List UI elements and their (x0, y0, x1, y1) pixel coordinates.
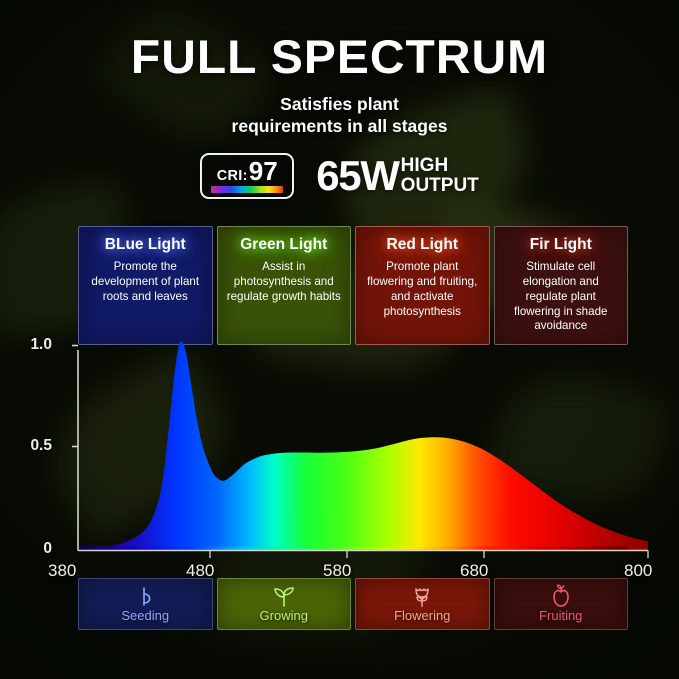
light-card-description: Promote plant flowering and fruiting, an… (363, 260, 482, 319)
light-card-description: Assist in photosynthesis and regulate gr… (225, 260, 344, 304)
cri-rainbow-bar-icon (211, 186, 283, 193)
light-card-title: Fir Light (502, 236, 621, 253)
stage-box-seeding: Seeding (78, 578, 213, 630)
growth-stage-boxes: SeedingGrowingFloweringFruiting (78, 578, 628, 630)
tulip-icon (411, 585, 433, 607)
apple-icon (550, 585, 572, 607)
page-subtitle: Satisfies plant requirements in all stag… (0, 93, 679, 137)
y-axis-label-1: 1.0 (8, 336, 52, 354)
output-line-2: OUTPUT (401, 176, 479, 196)
x-axis-label-800: 800 (624, 561, 652, 581)
wattage-badge: 65W HIGH OUTPUT (316, 156, 479, 196)
light-card-title: Red Light (363, 236, 482, 253)
light-card-description: Promote the development of plant roots a… (86, 260, 205, 304)
header: FULL SPECTRUM Satisfies plant requiremen… (0, 0, 679, 137)
light-card-title: BLue Light (86, 236, 205, 253)
light-card-description: Stimulate cell elongation and regulate p… (502, 260, 621, 334)
cri-label: CRI: (217, 168, 248, 184)
light-card-3: Red LightPromote plant flowering and fru… (355, 226, 490, 345)
stage-label: Fruiting (539, 608, 582, 623)
page-title: FULL SPECTRUM (0, 33, 679, 80)
subtitle-line-1: Satisfies plant (0, 93, 679, 115)
stage-label: Growing (260, 608, 308, 623)
spectrum-chart: 1.0 0.5 0 (0, 330, 679, 570)
badge-row: CRI: 97 65W HIGH OUTPUT (0, 153, 679, 199)
seedling-icon (272, 585, 296, 607)
y-axis-label-0-5: 0.5 (8, 437, 52, 455)
cri-value: 97 (249, 159, 278, 184)
stage-box-growing: Growing (217, 578, 352, 630)
y-axis-label-0: 0 (8, 540, 52, 558)
stage-box-fruiting: Fruiting (494, 578, 629, 630)
x-axis-label-380: 380 (48, 561, 76, 581)
stage-box-flowering: Flowering (355, 578, 490, 630)
wattage-value: 65W (316, 157, 398, 196)
light-card-1: BLue LightPromote the development of pla… (78, 226, 213, 345)
light-card-2: Green LightAssist in photosynthesis and … (217, 226, 352, 345)
light-card-title: Green Light (225, 236, 344, 253)
light-color-cards: BLue LightPromote the development of pla… (78, 226, 628, 345)
spectrum-chart-svg (0, 330, 679, 570)
infographic-root: FULL SPECTRUM Satisfies plant requiremen… (0, 0, 679, 679)
subtitle-line-2: requirements in all stages (0, 115, 679, 137)
output-label: HIGH OUTPUT (401, 156, 479, 196)
spectrum-area-curve (78, 341, 648, 550)
seed-sprout-icon (135, 585, 155, 607)
stage-label: Flowering (394, 608, 450, 623)
stage-label: Seeding (121, 608, 169, 623)
light-card-4: Fir LightStimulate cell elongation and r… (494, 226, 629, 345)
output-line-1: HIGH (401, 156, 479, 176)
cri-line: CRI: 97 (217, 159, 278, 184)
cri-badge: CRI: 97 (200, 153, 294, 199)
